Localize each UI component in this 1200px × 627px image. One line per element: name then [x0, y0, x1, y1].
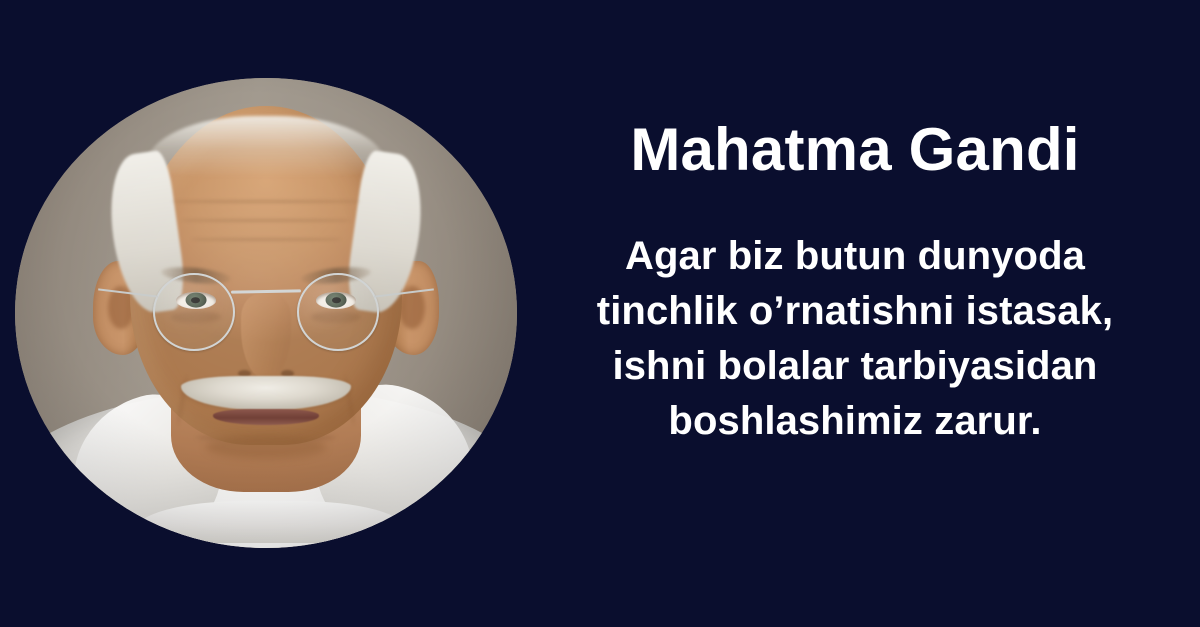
- quote-line-3: ishni bolalar tarbiyasidan: [597, 339, 1113, 394]
- quote-line-2: tinchlik o’rnatishni istasak,: [597, 284, 1113, 339]
- portrait-vignette: [15, 78, 517, 548]
- quote-line-1: Agar biz butun dunyoda: [597, 229, 1113, 284]
- quote-card: Mahatma Gandi Agar biz butun dunyoda tin…: [0, 0, 1200, 627]
- quote-text: Agar biz butun dunyoda tinchlik o’rnatis…: [597, 229, 1113, 449]
- quote-text-column: Mahatma Gandi Agar biz butun dunyoda tin…: [545, 0, 1165, 627]
- quote-line-4: boshlashimiz zarur.: [597, 394, 1113, 449]
- author-name: Mahatma Gandi: [630, 118, 1079, 181]
- portrait-avatar: [15, 78, 517, 548]
